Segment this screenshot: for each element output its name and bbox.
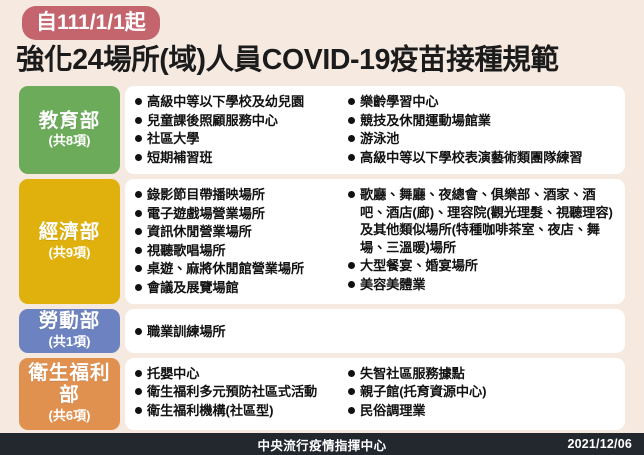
page-title: 強化24場所(域)人員COVID-19疫苗接種規範 [16,45,644,77]
list-item-label: 歌廳、舞廳、夜總會、俱樂部、酒家、酒吧、酒店(廊)、理容院(觀光理髮、視聽理容)… [360,186,619,256]
bullet-icon [348,117,355,124]
list-item: 視聽歌唱場所 [133,242,342,260]
list-item-label: 競技及休閒運動場館業 [360,112,619,130]
section-row-economy: 經濟部(共9項)錄影節目帶播映場所電子遊戲場營業場所資訊休閒營業場所視聽歌唱場所… [19,179,625,304]
list-item: 衛生福利多元預防社區式活動 [133,383,342,401]
list-item: 社區大學 [133,130,342,148]
list-item-label: 社區大學 [147,130,342,148]
bullet-icon [135,191,142,198]
department-tab-health: 衛生福利部(共6項) [19,358,120,430]
list-item: 競技及休閒運動場館業 [346,112,619,130]
bullet-icon [135,407,142,414]
footer-organization: 中央流行疫情指揮中心 [0,435,644,454]
list-item: 美容美體業 [346,276,619,294]
list-item-label: 美容美體業 [360,276,619,294]
bullet-icon [135,154,142,161]
bullet-icon [135,265,142,272]
venue-column-right: 失智社區服務據點親子館(托育資源中心)民俗調理業 [346,365,619,423]
list-item: 游泳池 [346,130,619,148]
department-item-count: (共9項) [49,245,91,261]
venue-column-right: 歌廳、舞廳、夜總會、俱樂部、酒家、酒吧、酒店(廊)、理容院(觀光理髮、視聽理容)… [346,186,619,297]
list-item-label: 高級中等以下學校及幼兒園 [147,93,342,111]
list-item-label: 錄影節目帶播映場所 [147,186,342,204]
section-row-education: 教育部(共8項)高級中等以下學校及幼兒園兒童課後照顧服務中心社區大學短期補習班樂… [19,86,625,174]
bullet-icon [348,135,355,142]
bullet-icon [348,407,355,414]
bullet-icon [135,135,142,142]
bullet-icon [348,281,355,288]
effective-date-badge: 自111/1/1起 [22,6,160,40]
list-item-label: 視聽歌唱場所 [147,242,342,260]
list-item: 資訊休閒營業場所 [133,223,342,241]
department-tab-education: 教育部(共8項) [19,86,120,174]
bullet-icon [135,228,142,235]
list-item: 衛生福利機構(社區型) [133,402,342,420]
list-item-label: 民俗調理業 [360,402,619,420]
bullet-icon [135,117,142,124]
list-item-label: 會議及展覽場館 [147,279,342,297]
list-item: 桌遊、麻將休閒館營業場所 [133,260,342,278]
list-item-label: 大型餐宴、婚宴場所 [360,257,619,275]
list-item: 短期補習班 [133,149,342,167]
list-item-label: 兒童課後照顧服務中心 [147,112,342,130]
list-item-label: 電子遊戲場營業場所 [147,205,342,223]
list-item-label: 高級中等以下學校表演藝術類團隊練習 [360,149,619,167]
poster-header: 自111/1/1起 強化24場所(域)人員COVID-19疫苗接種規範 [0,0,644,77]
list-item-label: 桌遊、麻將休閒館營業場所 [147,260,342,278]
venue-list-card-economy: 錄影節目帶播映場所電子遊戲場營業場所資訊休閒營業場所視聽歌唱場所桌遊、麻將休閒館… [125,179,625,304]
venue-column-left: 高級中等以下學校及幼兒園兒童課後照顧服務中心社區大學短期補習班 [133,93,346,167]
bullet-icon [348,98,355,105]
bullet-icon [348,370,355,377]
list-item: 民俗調理業 [346,402,619,420]
list-item: 兒童課後照顧服務中心 [133,112,342,130]
list-item: 失智社區服務據點 [346,365,619,383]
bullet-icon [348,154,355,161]
section-row-labor: 勞動部(共1項)職業訓練場所 [19,309,625,352]
bullet-icon [135,284,142,291]
venue-column-right: 樂齡學習中心競技及休閒運動場館業游泳池高級中等以下學校表演藝術類團隊練習 [346,93,619,167]
list-item: 歌廳、舞廳、夜總會、俱樂部、酒家、酒吧、酒店(廊)、理容院(觀光理髮、視聽理容)… [346,186,619,256]
footer-date: 2021/12/06 [567,437,632,451]
venue-column-left: 錄影節目帶播映場所電子遊戲場營業場所資訊休閒營業場所視聽歌唱場所桌遊、麻將休閒館… [133,186,346,297]
list-item: 職業訓練場所 [133,323,342,341]
list-item: 錄影節目帶播映場所 [133,186,342,204]
bullet-icon [135,98,142,105]
footer-bar: 中央流行疫情指揮中心 2021/12/06 [0,433,644,455]
list-item-label: 資訊休閒營業場所 [147,223,342,241]
list-item-label: 托嬰中心 [147,365,342,383]
department-item-count: (共6項) [49,408,91,424]
department-item-count: (共1項) [49,334,91,350]
department-name: 教育部 [39,111,101,133]
department-item-count: (共8項) [49,133,91,149]
poster-root: 自111/1/1起 強化24場所(域)人員COVID-19疫苗接種規範 教育部(… [0,0,644,455]
bullet-icon [135,388,142,395]
bullet-icon [348,191,355,198]
list-item: 大型餐宴、婚宴場所 [346,257,619,275]
venue-column-left: 托嬰中心衛生福利多元預防社區式活動衛生福利機構(社區型) [133,365,346,423]
bullet-icon [135,370,142,377]
list-item-label: 職業訓練場所 [147,323,342,341]
list-item-label: 樂齡學習中心 [360,93,619,111]
section-row-health: 衛生福利部(共6項)托嬰中心衛生福利多元預防社區式活動衛生福利機構(社區型)失智… [19,358,625,430]
list-item: 托嬰中心 [133,365,342,383]
bullet-icon [135,247,142,254]
list-item: 高級中等以下學校表演藝術類團隊練習 [346,149,619,167]
list-item: 樂齡學習中心 [346,93,619,111]
department-name: 衛生福利部 [19,363,120,407]
department-name: 勞動部 [39,311,101,333]
department-tab-labor: 勞動部(共1項) [19,309,120,352]
venue-list-card-education: 高級中等以下學校及幼兒園兒童課後照顧服務中心社區大學短期補習班樂齡學習中心競技及… [125,86,625,174]
list-item: 電子遊戲場營業場所 [133,205,342,223]
bullet-icon [348,262,355,269]
department-name: 經濟部 [39,222,101,244]
list-item-label: 失智社區服務據點 [360,365,619,383]
venue-column-left: 職業訓練場所 [133,321,346,342]
bullet-icon [135,328,142,335]
list-item: 會議及展覽場館 [133,279,342,297]
list-item-label: 衛生福利多元預防社區式活動 [147,383,342,401]
list-item-label: 短期補習班 [147,149,342,167]
list-item-label: 衛生福利機構(社區型) [147,402,342,420]
bullet-icon [135,210,142,217]
bullet-icon [348,388,355,395]
list-item: 親子館(托育資源中心) [346,383,619,401]
list-item: 高級中等以下學校及幼兒園 [133,93,342,111]
venue-list-card-health: 托嬰中心衛生福利多元預防社區式活動衛生福利機構(社區型)失智社區服務據點親子館(… [125,358,625,430]
list-item-label: 親子館(托育資源中心) [360,383,619,401]
list-item-label: 游泳池 [360,130,619,148]
department-sections: 教育部(共8項)高級中等以下學校及幼兒園兒童課後照顧服務中心社區大學短期補習班樂… [0,86,644,435]
department-tab-economy: 經濟部(共9項) [19,179,120,304]
venue-list-card-labor: 職業訓練場所 [125,309,625,352]
